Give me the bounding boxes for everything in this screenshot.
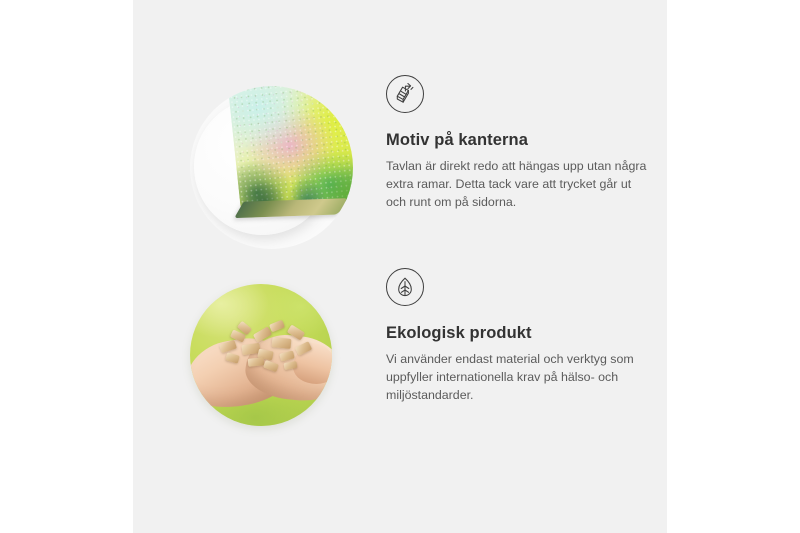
canvas-printed-side-edge — [234, 198, 347, 218]
feature-title: Motiv på kanterna — [386, 131, 664, 151]
wood-chip-pile — [218, 320, 318, 374]
feature-description: Vi använder endast material och verktyg … — [386, 351, 648, 405]
hands-with-wood-chips-photo — [190, 284, 332, 426]
feature-title: Ekologisk produkt — [386, 324, 664, 344]
feature-description: Tavlan är direkt redo att hängas upp uta… — [386, 158, 648, 212]
canvas-print-corner-photo — [190, 86, 353, 249]
canvas-print-block — [228, 86, 353, 212]
feature-text-column: Ekologisk produkt Vi använder endast mat… — [386, 268, 664, 405]
product-feature-panel: Motiv på kanterna Tavlan är direkt redo … — [0, 0, 800, 533]
content-panel: Motiv på kanterna Tavlan är direkt redo … — [133, 0, 667, 533]
leaf-icon — [386, 268, 424, 306]
feature-text-column: Motiv på kanterna Tavlan är direkt redo … — [386, 75, 664, 212]
canvas-wrapped-edges-icon — [386, 75, 424, 113]
